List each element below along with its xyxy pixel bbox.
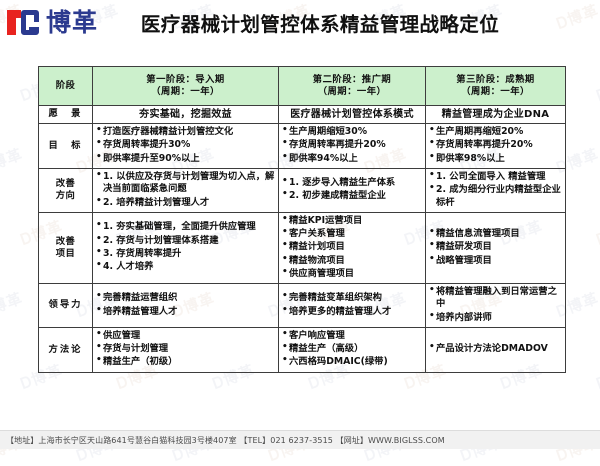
footer-contact-text: 【地址】上海市长宁区天山路641号慧谷白猫科技园3号楼407室 【TEL】021…: [0, 435, 445, 446]
row-label-line1: 愿 景: [49, 108, 83, 119]
list-item: 精益计划项目: [282, 241, 422, 253]
cell-bullet-list: 精益信息流管理项目精益研发项目战略管理项目: [429, 228, 562, 267]
cell-bullet-list: 1. 夯实基础管理，全面提升供应管理2. 存货与计划管理体系搭建3. 存货周转率…: [96, 221, 275, 273]
table-cell: 夯实基础，挖掘效益: [93, 106, 279, 124]
cell-text: 精益管理成为企业DNA: [442, 109, 550, 120]
list-item: 1. 逐步导入精益生产体系: [282, 177, 422, 189]
row-label-line1: 方法论: [49, 344, 83, 355]
table-cell: 1. 公司全面导入 精益管理2. 成为细分行业内精益型企业标杆: [426, 168, 566, 212]
cell-bullet-list: 完善精益运营组织培养精益管理人才: [96, 292, 275, 318]
list-item: 2. 初步建成精益型企业: [282, 190, 422, 202]
list-item: 存货周转率再提升20%: [282, 139, 422, 151]
table-cell: 1. 夯实基础管理，全面提升供应管理2. 存货与计划管理体系搭建3. 存货周转率…: [93, 212, 279, 283]
list-item: 培养内部讲师: [429, 312, 562, 324]
table-row: 领导力完善精益运营组织培养精益管理人才完善精益变革组织架构培养更多的精益管理人才…: [39, 284, 566, 328]
list-item: 1. 夯实基础管理，全面提升供应管理: [96, 221, 275, 233]
cell-bullet-list: 供应管理存货与计划管理精益生产（初级）: [96, 330, 275, 369]
table-row: 目 标打造医疗器械精益计划管控文化存货周转率提升30%即供率提升至90%以上生产…: [39, 124, 566, 169]
column-header-stage: 阶段: [39, 67, 93, 106]
cell-bullet-list: 打造医疗器械精益计划管控文化存货周转率提升30%即供率提升至90%以上: [96, 126, 275, 165]
row-label-line1: 改善: [56, 178, 76, 189]
row-label: 改善方向: [39, 168, 93, 212]
list-item: 精益KPI运营项目: [282, 215, 422, 227]
column-header-phase-3: 第三阶段：成熟期 （周期：一年）: [426, 67, 566, 106]
list-item: 存货周转率提升30%: [96, 139, 275, 151]
table-cell: 生产周期再缩短20%存货周转率再提升20%即供率98%以上: [426, 124, 566, 169]
table-cell: 1. 以供应及存货与计划管理为切入点，解决当前面临紧急问题2. 培养精益计划管理…: [93, 168, 279, 212]
table-header-row: 阶段 第一阶段：导入期 （周期：一年） 第二阶段：推广期 （周期：一年） 第三阶…: [39, 67, 566, 106]
list-item: 生产周期再缩短20%: [429, 126, 562, 138]
list-item: 1. 公司全面导入 精益管理: [429, 171, 562, 183]
page-footer: 【地址】上海市长宁区天山路641号慧谷白猫科技园3号楼407室 【TEL】021…: [0, 430, 600, 449]
table-cell: 将精益管理融入到日常运营之中培养内部讲师: [426, 284, 566, 328]
page-title: 医疗器械计划管控体系精益管理战略定位: [0, 8, 600, 37]
cell-bullet-list: 生产周期再缩短20%存货周转率再提升20%即供率98%以上: [429, 126, 562, 165]
list-item: 3. 存货周转率提升: [96, 248, 275, 260]
cell-bullet-list: 将精益管理融入到日常运营之中培养内部讲师: [429, 286, 562, 324]
row-label: 方法论: [39, 327, 93, 372]
list-item: 2. 培养精益计划管理人才: [96, 197, 275, 209]
cell-bullet-list: 1. 逐步导入精益生产体系2. 初步建成精益型企业: [282, 177, 422, 203]
table-cell: 完善精益运营组织培养精益管理人才: [93, 284, 279, 328]
list-item: 供应管理: [96, 330, 275, 342]
column-header-phase-1-label: 第一阶段：导入期: [146, 74, 224, 85]
list-item: 战略管理项目: [429, 255, 562, 267]
list-item: 培养更多的精益管理人才: [282, 306, 422, 318]
list-item: 客户响应管理: [282, 330, 422, 342]
table-cell: 供应管理存货与计划管理精益生产（初级）: [93, 327, 279, 372]
list-item: 存货与计划管理: [96, 343, 275, 355]
cell-text: 夯实基础，挖掘效益: [139, 109, 232, 120]
list-item: 完善精益运营组织: [96, 292, 275, 304]
cell-bullet-list: 产品设计方法论DMADOV: [429, 343, 562, 355]
watermark-tile: Ꭰ博革: [594, 215, 600, 249]
cell-bullet-list: 1. 公司全面导入 精益管理2. 成为细分行业内精益型企业标杆: [429, 171, 562, 209]
table-cell: 客户响应管理精益生产（高级）六西格玛DMAIC(绿带): [279, 327, 426, 372]
cell-bullet-list: 客户响应管理精益生产（高级）六西格玛DMAIC(绿带): [282, 330, 422, 369]
strategy-matrix: 阶段 第一阶段：导入期 （周期：一年） 第二阶段：推广期 （周期：一年） 第三阶…: [38, 66, 565, 373]
watermark-tile: Ꭰ博革: [0, 287, 25, 321]
column-header-phase-2: 第二阶段：推广期 （周期：一年）: [279, 67, 426, 106]
table-cell: 1. 逐步导入精益生产体系2. 初步建成精益型企业: [279, 168, 426, 212]
row-label: 目 标: [39, 124, 93, 169]
column-header-phase-3-sub: （周期：一年）: [429, 86, 562, 98]
list-item: 2. 成为细分行业内精益型企业标杆: [429, 184, 562, 209]
table-cell: 精益信息流管理项目精益研发项目战略管理项目: [426, 212, 566, 283]
column-header-phase-2-label: 第二阶段：推广期: [313, 74, 391, 85]
column-header-phase-1-sub: （周期：一年）: [96, 86, 275, 98]
table-cell: 精益KPI运营项目客户关系管理精益计划项目精益物流项目供应商管理项目: [279, 212, 426, 283]
cell-bullet-list: 1. 以供应及存货与计划管理为切入点，解决当前面临紧急问题2. 培养精益计划管理…: [96, 171, 275, 209]
list-item: 1. 以供应及存货与计划管理为切入点，解决当前面临紧急问题: [96, 171, 275, 196]
list-item: 六西格玛DMAIC(绿带): [282, 356, 422, 368]
list-item: 打造医疗器械精益计划管控文化: [96, 126, 275, 138]
list-item: 4. 人才培养: [96, 261, 275, 273]
table-cell: 医疗器械计划管控体系模式: [279, 106, 426, 124]
row-label-line1: 目 标: [49, 140, 83, 151]
list-item: 将精益管理融入到日常运营之中: [429, 286, 562, 311]
row-label: 领导力: [39, 284, 93, 328]
list-item: 完善精益变革组织架构: [282, 292, 422, 304]
watermark-tile: Ꭰ博革: [0, 143, 25, 177]
list-item: 即供率98%以上: [429, 153, 562, 165]
watermark-tile: Ꭰ博革: [594, 359, 600, 393]
row-label-line2: 方向: [42, 190, 89, 202]
table-body: 愿 景夯实基础，挖掘效益医疗器械计划管控体系模式精益管理成为企业DNA目 标打造…: [39, 106, 566, 373]
row-label-line1: 改善: [56, 236, 76, 247]
watermark-tile: Ꭰ博革: [594, 71, 600, 105]
list-item: 精益生产（初级）: [96, 356, 275, 368]
table-cell: 生产周期缩短30%存货周转率再提升20%即供率94%以上: [279, 124, 426, 169]
list-item: 精益生产（高级）: [282, 343, 422, 355]
table-cell: 精益管理成为企业DNA: [426, 106, 566, 124]
strategy-table: 阶段 第一阶段：导入期 （周期：一年） 第二阶段：推广期 （周期：一年） 第三阶…: [38, 66, 566, 373]
list-item: 2. 存货与计划管理体系搭建: [96, 235, 275, 247]
table-head: 阶段 第一阶段：导入期 （周期：一年） 第二阶段：推广期 （周期：一年） 第三阶…: [39, 67, 566, 106]
row-label: 愿 景: [39, 106, 93, 124]
row-label: 改善项目: [39, 212, 93, 283]
list-item: 供应商管理项目: [282, 268, 422, 280]
table-cell: 产品设计方法论DMADOV: [426, 327, 566, 372]
list-item: 生产周期缩短30%: [282, 126, 422, 138]
table-cell: 打造医疗器械精益计划管控文化存货周转率提升30%即供率提升至90%以上: [93, 124, 279, 169]
table-row: 方法论供应管理存货与计划管理精益生产（初级）客户响应管理精益生产（高级）六西格玛…: [39, 327, 566, 372]
table-row: 改善方向1. 以供应及存货与计划管理为切入点，解决当前面临紧急问题2. 培养精益…: [39, 168, 566, 212]
cell-bullet-list: 生产周期缩短30%存货周转率再提升20%即供率94%以上: [282, 126, 422, 165]
list-item: 即供率提升至90%以上: [96, 153, 275, 165]
list-item: 培养精益管理人才: [96, 306, 275, 318]
table-row: 改善项目1. 夯实基础管理，全面提升供应管理2. 存货与计划管理体系搭建3. 存…: [39, 212, 566, 283]
table-row: 愿 景夯实基础，挖掘效益医疗器械计划管控体系模式精益管理成为企业DNA: [39, 106, 566, 124]
list-item: 产品设计方法论DMADOV: [429, 343, 562, 355]
column-header-phase-3-label: 第三阶段：成熟期: [456, 74, 534, 85]
page-header: 博革 医疗器械计划管控体系精益管理战略定位: [0, 0, 600, 47]
cell-text: 医疗器械计划管控体系模式: [290, 109, 414, 120]
table-cell: 完善精益变革组织架构培养更多的精益管理人才: [279, 284, 426, 328]
column-header-phase-2-sub: （周期：一年）: [282, 86, 422, 98]
list-item: 存货周转率再提升20%: [429, 139, 562, 151]
cell-bullet-list: 完善精益变革组织架构培养更多的精益管理人才: [282, 292, 422, 318]
list-item: 即供率94%以上: [282, 153, 422, 165]
list-item: 精益研发项目: [429, 241, 562, 253]
list-item: 精益信息流管理项目: [429, 228, 562, 240]
cell-bullet-list: 精益KPI运营项目客户关系管理精益计划项目精益物流项目供应商管理项目: [282, 215, 422, 280]
list-item: 精益物流项目: [282, 255, 422, 267]
column-header-phase-1: 第一阶段：导入期 （周期：一年）: [93, 67, 279, 106]
row-label-line2: 项目: [42, 248, 89, 260]
row-label-line1: 领导力: [49, 299, 83, 310]
column-header-stage-label: 阶段: [56, 80, 76, 91]
list-item: 客户关系管理: [282, 228, 422, 240]
